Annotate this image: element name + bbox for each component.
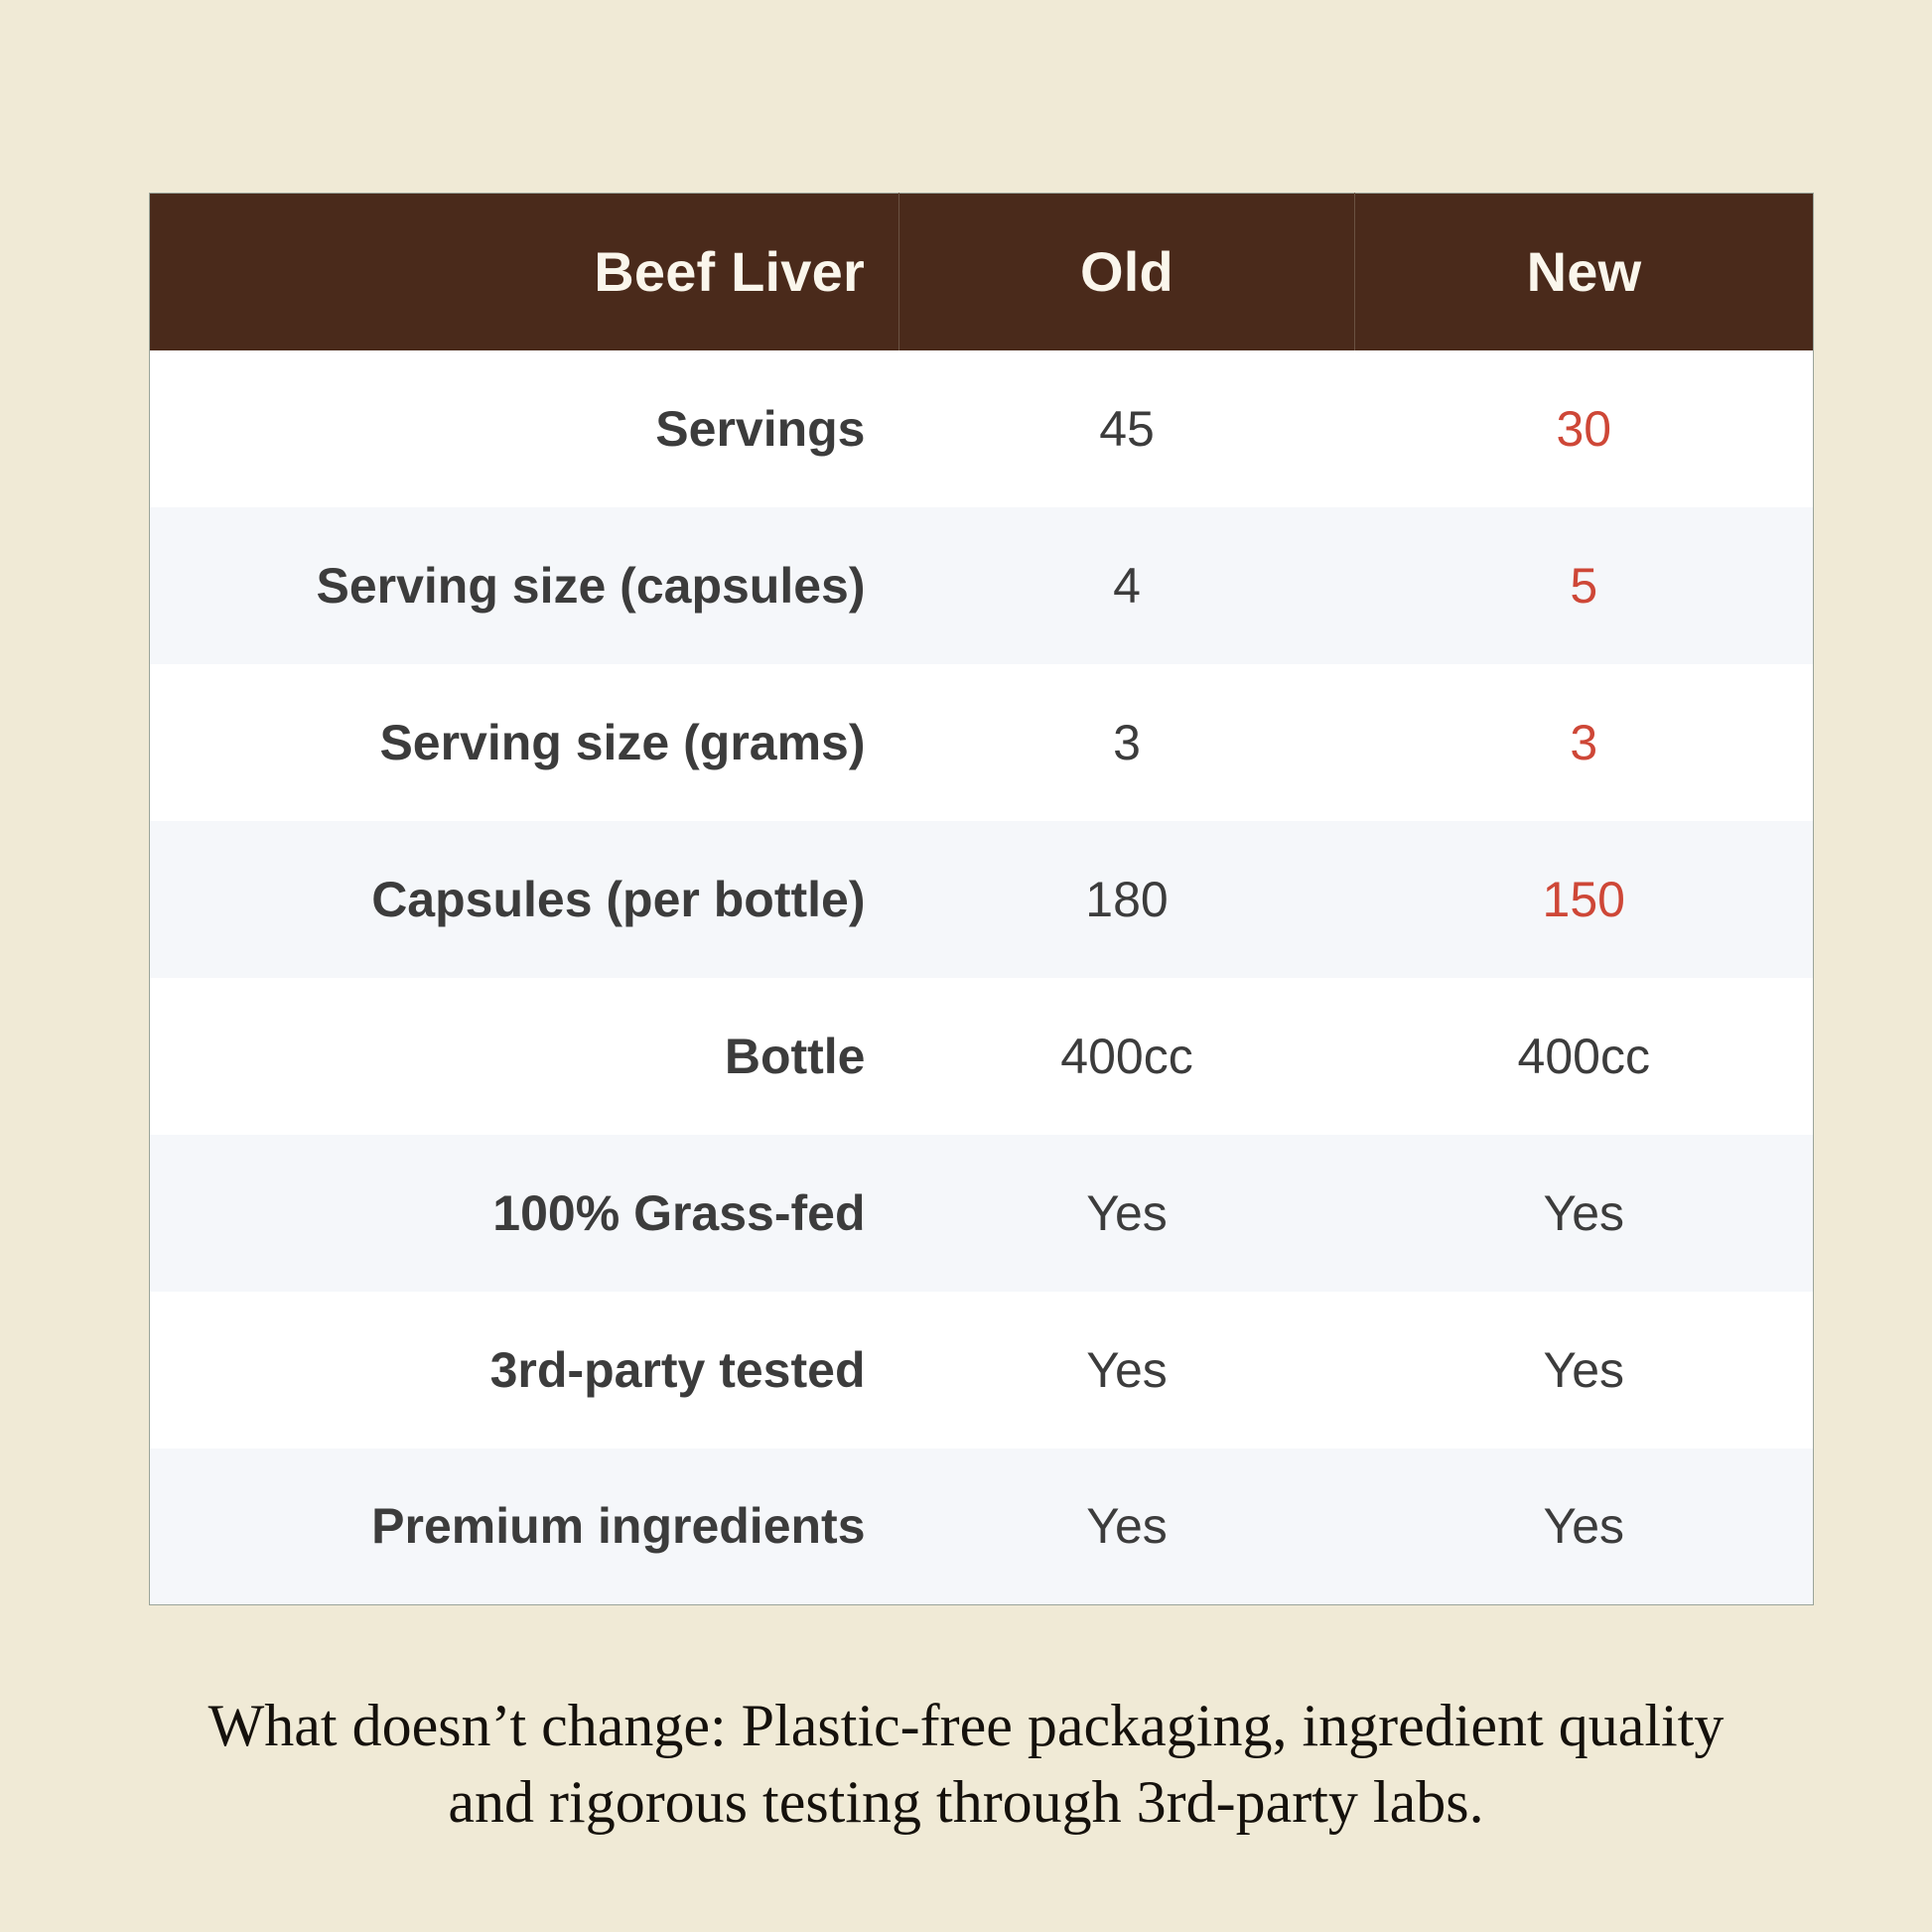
comparison-table-container: Beef Liver Old New Servings4530Serving s…	[149, 193, 1813, 1605]
row-label: Servings	[150, 350, 899, 507]
row-label: Bottle	[150, 978, 899, 1135]
column-header-product: Beef Liver	[150, 194, 899, 350]
cell-new-value: Yes	[1355, 1135, 1814, 1292]
cell-new-value: Yes	[1355, 1292, 1814, 1449]
comparison-infographic: Beef Liver Old New Servings4530Serving s…	[0, 0, 1932, 1932]
caption-line-1: What doesn’t change: Plastic-free packag…	[60, 1688, 1872, 1764]
row-label: Capsules (per bottle)	[150, 821, 899, 978]
cell-new-value: Yes	[1355, 1449, 1814, 1605]
table-row: 100% Grass-fedYesYes	[150, 1135, 1814, 1292]
cell-old-value: Yes	[899, 1135, 1355, 1292]
row-label: 100% Grass-fed	[150, 1135, 899, 1292]
table-body: Servings4530Serving size (capsules)45Ser…	[150, 350, 1814, 1605]
table-row: Servings4530	[150, 350, 1814, 507]
cell-new-value: 30	[1355, 350, 1814, 507]
table-row: Serving size (grams)33	[150, 664, 1814, 821]
table-row: Capsules (per bottle)180150	[150, 821, 1814, 978]
footer-caption: What doesn’t change: Plastic-free packag…	[60, 1688, 1872, 1841]
cell-old-value: 180	[899, 821, 1355, 978]
caption-line-2: and rigorous testing through 3rd-party l…	[60, 1764, 1872, 1841]
column-header-old: Old	[899, 194, 1355, 350]
cell-new-value: 400cc	[1355, 978, 1814, 1135]
row-label: Premium ingredients	[150, 1449, 899, 1605]
cell-old-value: Yes	[899, 1292, 1355, 1449]
table-row: Bottle400cc400cc	[150, 978, 1814, 1135]
cell-new-value: 3	[1355, 664, 1814, 821]
cell-old-value: Yes	[899, 1449, 1355, 1605]
row-label: Serving size (capsules)	[150, 507, 899, 664]
row-label: Serving size (grams)	[150, 664, 899, 821]
cell-new-value: 5	[1355, 507, 1814, 664]
cell-new-value: 150	[1355, 821, 1814, 978]
table-row: Serving size (capsules)45	[150, 507, 1814, 664]
cell-old-value: 400cc	[899, 978, 1355, 1135]
row-label: 3rd-party tested	[150, 1292, 899, 1449]
cell-old-value: 3	[899, 664, 1355, 821]
comparison-table: Beef Liver Old New Servings4530Serving s…	[149, 193, 1814, 1605]
table-header-row: Beef Liver Old New	[150, 194, 1814, 350]
cell-old-value: 45	[899, 350, 1355, 507]
table-row: Premium ingredientsYesYes	[150, 1449, 1814, 1605]
table-header: Beef Liver Old New	[150, 194, 1814, 350]
column-header-new: New	[1355, 194, 1814, 350]
cell-old-value: 4	[899, 507, 1355, 664]
table-row: 3rd-party testedYesYes	[150, 1292, 1814, 1449]
